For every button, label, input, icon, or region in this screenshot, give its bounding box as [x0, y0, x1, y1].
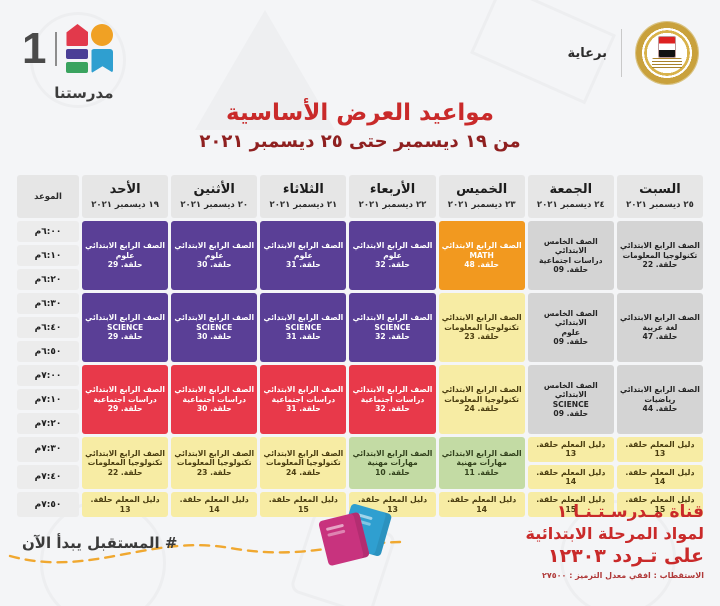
- cell-subject: مهارات مهنية: [441, 458, 523, 467]
- channel-number: 1: [22, 31, 46, 67]
- patron-label: برعاية: [568, 46, 608, 61]
- cell-episode: حلقة. 10: [351, 468, 433, 477]
- cell-grade: الصف الرابع الابتدائي: [619, 241, 701, 250]
- time-slot: ٧:٢٠م: [17, 413, 79, 434]
- cell-episode: حلقة. 31: [262, 404, 344, 413]
- cell-grade: الصف الرابع الابتدائي: [173, 241, 255, 250]
- cell-episode: حلقة. 32: [351, 260, 433, 269]
- day-name: السبت: [619, 182, 701, 197]
- cell-subject: دراسات اجتماعية: [351, 395, 433, 404]
- time-column-header: الموعد: [17, 175, 79, 218]
- schedule-cell[interactable]: الصف الرابع الابتدائيدراسات اجتماعيةحلقة…: [349, 365, 435, 434]
- day-date: ١٩ ديسمبر ٢٠٢١: [84, 200, 166, 210]
- logo-green-bar-icon: [66, 62, 88, 73]
- schedule-cell[interactable]: الصف الرابع الابتدائيSCIENCEحلقة. 29: [82, 293, 168, 362]
- cell-grade: الصف الرابع الابتدائي: [173, 449, 255, 458]
- schedule-cell[interactable]: الصف الرابع الابتدائيلغة عربيةحلقة. 47: [617, 293, 703, 362]
- schedule-cell[interactable]: الصف الخامس الابتدائيSCIENCEحلقة. 09: [528, 365, 614, 434]
- schedule-cell[interactable]: الصف الرابع الابتدائيمهارات مهنيةحلقة. 1…: [439, 437, 525, 489]
- header-divider: [621, 29, 622, 77]
- schedule-cell[interactable]: الصف الرابع الابتدائيرياضياتحلقة. 44: [617, 365, 703, 434]
- day-header-7: الأحد١٩ ديسمبر ٢٠٢١: [82, 175, 168, 218]
- day-header-6: الأثنين٢٠ ديسمبر ٢٠٢١: [171, 175, 257, 218]
- logo-blue-shape-icon: [91, 49, 113, 73]
- cell-episode: حلقة. 31: [262, 260, 344, 269]
- cell-episode: حلقة. 29: [84, 332, 166, 341]
- cell-episode: حلقة. 32: [351, 332, 433, 341]
- cell-grade: الصف الرابع الابتدائي: [619, 385, 701, 394]
- cell-subject: SCIENCE: [84, 323, 166, 332]
- schedule-table-wrapper: السبت٢٥ ديسمبر ٢٠٢١الجمعة٢٤ ديسمبر ٢٠٢١ا…: [14, 172, 706, 520]
- day-date: ٢٥ ديسمبر ٢٠٢١: [619, 200, 701, 210]
- cell-grade: الصف الرابع الابتدائي: [84, 241, 166, 250]
- cell-grade: الصف الرابع الابتدائي: [84, 313, 166, 322]
- cell-text: دليل المعلم حلقة. 14: [619, 468, 701, 487]
- cell-episode: حلقة. 09: [530, 337, 612, 346]
- title-block: مواعيد العرض الأساسية من ١٩ ديسمبر حتى ٢…: [0, 100, 720, 152]
- day-header-2: الجمعة٢٤ ديسمبر ٢٠٢١: [528, 175, 614, 218]
- cell-episode: حلقة. 48: [441, 260, 523, 269]
- brand-divider: [55, 32, 57, 66]
- logo-purple-bar-icon: [66, 49, 88, 59]
- cell-grade: الصف الرابع الابتدائي: [351, 241, 433, 250]
- cell-grade: الصف الرابع الابتدائي: [262, 313, 344, 322]
- cell-grade: الصف الرابع الابتدائي: [441, 241, 523, 250]
- schedule-cell[interactable]: الصف الرابع الابتدائيعلومحلقة. 32: [349, 221, 435, 290]
- cell-episode: حلقة. 23: [173, 468, 255, 477]
- cell-subject: علوم: [262, 251, 344, 260]
- cell-subject: علوم: [84, 251, 166, 260]
- time-slot: ٧:٠٠م: [17, 365, 79, 386]
- time-slot: ٦:٢٠م: [17, 269, 79, 290]
- cell-episode: حلقة. 11: [441, 468, 523, 477]
- day-date: ٢١ ديسمبر ٢٠٢١: [262, 200, 344, 210]
- cell-episode: حلقة. 24: [262, 468, 344, 477]
- schedule-cell[interactable]: الصف الرابع الابتدائيدراسات اجتماعيةحلقة…: [82, 365, 168, 434]
- cell-subject: تكنولوجيا المعلومات: [173, 458, 255, 467]
- schedule-table-head: السبت٢٥ ديسمبر ٢٠٢١الجمعة٢٤ ديسمبر ٢٠٢١ا…: [17, 175, 703, 218]
- footer-channel-line: قناة مـدرسـتـنـا ١: [526, 502, 704, 522]
- schedule-cell[interactable]: الصف الرابع الابتدائيتكنولوجيا المعلومات…: [439, 365, 525, 434]
- page-header: برعاية 1 مدرستنا: [0, 0, 720, 95]
- schedule-cell[interactable]: الصف الرابع الابتدائيSCIENCEحلقة. 32: [349, 293, 435, 362]
- cell-episode: حلقة. 44: [619, 404, 701, 413]
- day-name: الثلاثاء: [262, 182, 344, 197]
- cell-episode: حلقة. 31: [262, 332, 344, 341]
- time-slot: ٦:٠٠م: [17, 221, 79, 242]
- cell-grade: الصف الخامس الابتدائي: [530, 309, 612, 328]
- cell-grade: الصف الرابع الابتدائي: [84, 449, 166, 458]
- cell-subject: لغة عربية: [619, 323, 701, 332]
- day-name: الخميس: [441, 182, 523, 197]
- schedule-cell[interactable]: الصف الرابع الابتدائيعلومحلقة. 29: [82, 221, 168, 290]
- cell-grade: الصف الخامس الابتدائي: [530, 381, 612, 400]
- day-date: ٢٣ ديسمبر ٢٠٢١: [441, 200, 523, 210]
- day-name: الأحد: [84, 182, 166, 197]
- schedule-cell[interactable]: الصف الرابع الابتدائيSCIENCEحلقة. 31: [260, 293, 346, 362]
- schedule-cell[interactable]: الصف الرابع الابتدائيتكنولوجيا المعلومات…: [439, 293, 525, 362]
- time-slot: ٧:١٠م: [17, 389, 79, 410]
- schedule-cell[interactable]: الصف الرابع الابتدائيتكنولوجيا المعلومات…: [82, 437, 168, 489]
- cell-episode: حلقة. 30: [173, 332, 255, 341]
- day-header-row: السبت٢٥ ديسمبر ٢٠٢١الجمعة٢٤ ديسمبر ٢٠٢١ا…: [17, 175, 703, 218]
- cell-subject: SCIENCE: [173, 323, 255, 332]
- cell-subject: تكنولوجيا المعلومات: [441, 323, 523, 332]
- footer-technical-line: الاستقطاب : افقي معدل الترميز : ٢٧٥٠٠: [526, 571, 704, 580]
- table-row: الصف الرابع الابتدائيتكنولوجيا المعلومات…: [17, 221, 703, 242]
- cell-grade: الصف الرابع الابتدائي: [441, 385, 523, 394]
- cell-episode: حلقة. 22: [619, 260, 701, 269]
- cell-subject: دراسات اجتماعية: [84, 395, 166, 404]
- cell-episode: حلقة. 29: [84, 260, 166, 269]
- schedule-cell[interactable]: الصف الرابع الابتدائيتكنولوجيا المعلومات…: [617, 221, 703, 290]
- channel-brand: 1 مدرستنا: [22, 24, 113, 102]
- cell-grade: الصف الرابع الابتدائي: [351, 313, 433, 322]
- day-date: ٢٠ ديسمبر ٢٠٢١: [173, 200, 255, 210]
- brand-row: 1: [22, 24, 113, 73]
- infographic-page: برعاية 1 مدرستنا مواعيد العرض الأساسية م…: [0, 0, 720, 606]
- cell-subject: تكنولوجيا المعلومات: [441, 395, 523, 404]
- cell-grade: الصف الرابع الابتدائي: [441, 313, 523, 322]
- schedule-cell[interactable]: الصف الرابع الابتدائيSCIENCEحلقة. 30: [171, 293, 257, 362]
- cell-episode: حلقة. 47: [619, 332, 701, 341]
- cell-episode: حلقة. 29: [84, 404, 166, 413]
- day-name: الأربعاء: [351, 182, 433, 197]
- schedule-cell[interactable]: الصف الرابع الابتدائيدراسات اجتماعيةحلقة…: [171, 365, 257, 434]
- cell-episode: حلقة. 24: [441, 404, 523, 413]
- day-header-3: الخميس٢٣ ديسمبر ٢٠٢١: [439, 175, 525, 218]
- day-header-5: الثلاثاء٢١ ديسمبر ٢٠٢١: [260, 175, 346, 218]
- schedule-cell[interactable]: الصف الرابع الابتدائيتكنولوجيا المعلومات…: [260, 437, 346, 489]
- cell-subject: علوم: [351, 251, 433, 260]
- cell-subject: علوم: [530, 328, 612, 337]
- schedule-cell[interactable]: الصف الرابع الابتدائيمهارات مهنيةحلقة. 1…: [349, 437, 435, 489]
- ministry-block: برعاية: [568, 22, 699, 84]
- cell-subject: SCIENCE: [351, 323, 433, 332]
- cell-episode: حلقة. 30: [173, 260, 255, 269]
- day-name: الجمعة: [530, 182, 612, 197]
- cell-grade: الصف الرابع الابتدائي: [84, 385, 166, 394]
- cell-grade: الصف الرابع الابتدائي: [173, 313, 255, 322]
- cell-subject: مهارات مهنية: [351, 458, 433, 467]
- time-slot: ٧:٣٠م: [17, 437, 79, 462]
- channel-frequency-block: قناة مـدرسـتـنـا ١ لمواد المرحلة الابتدا…: [526, 502, 704, 580]
- cell-grade: الصف الرابع الابتدائي: [441, 449, 523, 458]
- schedule-cell[interactable]: الصف الخامس الابتدائيدراسات اجتماعيةحلقة…: [528, 221, 614, 290]
- cell-subject: SCIENCE: [262, 323, 344, 332]
- cell-grade: الصف الرابع الابتدائي: [351, 385, 433, 394]
- schedule-table-body: الصف الرابع الابتدائيتكنولوجيا المعلومات…: [17, 221, 703, 517]
- cell-episode: حلقة. 30: [173, 404, 255, 413]
- time-slot: ٦:٤٠م: [17, 317, 79, 338]
- schedule-cell[interactable]: دليل المعلم حلقة. 13: [617, 437, 703, 462]
- time-slot: ٦:٣٠م: [17, 293, 79, 314]
- schedule-cell[interactable]: الصف الرابع الابتدائيعلومحلقة. 30: [171, 221, 257, 290]
- books-illustration: [315, 506, 405, 568]
- ministry-seal-icon: [636, 22, 698, 84]
- cell-episode: حلقة. 32: [351, 404, 433, 413]
- footer-frequency-line: على تـردد ١٢٣٠٣: [526, 545, 704, 567]
- time-slot: ٧:٤٠م: [17, 465, 79, 490]
- cell-episode: حلقة. 09: [530, 409, 612, 418]
- cell-subject: رياضيات: [619, 395, 701, 404]
- schedule-table: السبت٢٥ ديسمبر ٢٠٢١الجمعة٢٤ ديسمبر ٢٠٢١ا…: [14, 172, 706, 520]
- logo-home-shape-icon: [66, 24, 88, 46]
- hashtag-text: # المستقبل يبدأ الآن: [22, 534, 177, 552]
- cell-subject: دراسات اجتماعية: [173, 395, 255, 404]
- schedule-cell[interactable]: دليل المعلم حلقة. 14: [528, 465, 614, 490]
- logo-circle-shape-icon: [91, 24, 113, 46]
- cell-subject: تكنولوجيا المعلومات: [84, 458, 166, 467]
- cell-text: دليل المعلم حلقة. 13: [530, 440, 612, 459]
- schedule-cell[interactable]: الصف الرابع الابتدائيتكنولوجيا المعلومات…: [171, 437, 257, 489]
- page-subtitle: من ١٩ ديسمبر حتى ٢٥ ديسمبر ٢٠٢١: [0, 131, 720, 152]
- schedule-cell[interactable]: دليل المعلم حلقة. 13: [528, 437, 614, 462]
- cell-grade: الصف الرابع الابتدائي: [619, 313, 701, 322]
- cell-text: دليل المعلم حلقة. 14: [530, 468, 612, 487]
- cell-grade: الصف الرابع الابتدائي: [351, 449, 433, 458]
- table-row: الصف الرابع الابتدائيرياضياتحلقة. 44الصف…: [17, 365, 703, 386]
- cell-episode: حلقة. 23: [441, 332, 523, 341]
- cell-subject: دراسات اجتماعية: [530, 256, 612, 265]
- table-row: الصف الرابع الابتدائيلغة عربيةحلقة. 47ال…: [17, 293, 703, 314]
- cell-grade: الصف الرابع الابتدائي: [262, 449, 344, 458]
- page-title: مواعيد العرض الأساسية: [0, 100, 720, 126]
- cell-subject: SCIENCE: [530, 400, 612, 409]
- day-header-4: الأربعاء٢٢ ديسمبر ٢٠٢١: [349, 175, 435, 218]
- time-slot: ٦:١٠م: [17, 245, 79, 266]
- cell-subject: علوم: [173, 251, 255, 260]
- schedule-cell[interactable]: الصف الرابع الابتدائيMATHحلقة. 48: [439, 221, 525, 290]
- cell-grade: الصف الرابع الابتدائي: [173, 385, 255, 394]
- table-row: دليل المعلم حلقة. 13دليل المعلم حلقة. 13…: [17, 437, 703, 462]
- schedule-cell[interactable]: الصف الرابع الابتدائيدراسات اجتماعيةحلقة…: [260, 365, 346, 434]
- cell-grade: الصف الرابع الابتدائي: [262, 385, 344, 394]
- schedule-cell[interactable]: الصف الرابع الابتدائيعلومحلقة. 31: [260, 221, 346, 290]
- footer-stage-line: لمواد المرحلة الابتدائية: [526, 524, 704, 543]
- cell-subject: MATH: [441, 251, 523, 260]
- cell-subject: تكنولوجيا المعلومات: [619, 251, 701, 260]
- madrasatna-logo-icon: [66, 24, 113, 73]
- cell-grade: الصف الخامس الابتدائي: [530, 237, 612, 256]
- time-slot: ٦:٥٠م: [17, 341, 79, 362]
- day-date: ٢٢ ديسمبر ٢٠٢١: [351, 200, 433, 210]
- schedule-cell[interactable]: دليل المعلم حلقة. 14: [617, 465, 703, 490]
- cell-grade: الصف الرابع الابتدائي: [262, 241, 344, 250]
- day-header-1: السبت٢٥ ديسمبر ٢٠٢١: [617, 175, 703, 218]
- schedule-cell[interactable]: الصف الخامس الابتدائيعلومحلقة. 09: [528, 293, 614, 362]
- day-name: الأثنين: [173, 182, 255, 197]
- day-date: ٢٤ ديسمبر ٢٠٢١: [530, 200, 612, 210]
- page-footer: # المستقبل يبدأ الآن قناة مـدرسـتـنـا ١ …: [0, 490, 720, 606]
- cell-text: دليل المعلم حلقة. 13: [619, 440, 701, 459]
- cell-episode: حلقة. 09: [530, 265, 612, 274]
- cell-subject: تكنولوجيا المعلومات: [262, 458, 344, 467]
- cell-episode: حلقة. 22: [84, 468, 166, 477]
- cell-subject: دراسات اجتماعية: [262, 395, 344, 404]
